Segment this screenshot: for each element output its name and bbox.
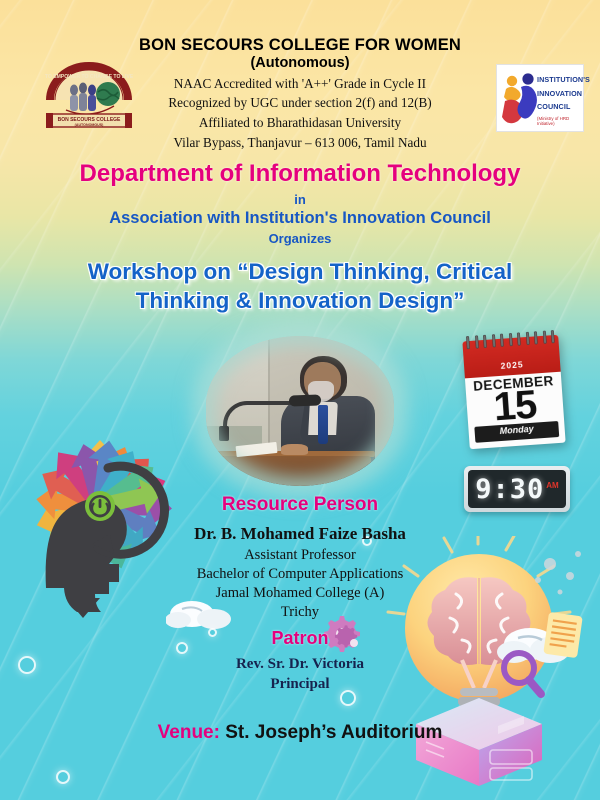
deco-ring bbox=[56, 770, 70, 784]
resource-person-heading: Resource Person bbox=[0, 494, 600, 516]
event-date-calendar: 2025 DECEMBER 15 Monday bbox=[462, 335, 565, 449]
venue-value: St. Joseph’s Auditorium bbox=[225, 722, 442, 743]
resource-person-institution: Jamal Mohamed College (A) bbox=[0, 584, 600, 603]
department-connector: in bbox=[0, 192, 600, 207]
clock-meridiem: AM bbox=[546, 481, 558, 490]
department-block: Department of Information Technology in … bbox=[0, 160, 600, 246]
institution-header: BON SECOURS COLLEGE FOR WOMEN (Autonomou… bbox=[0, 36, 600, 151]
venue-row: Venue: St. Joseph’s Auditorium bbox=[0, 722, 600, 744]
department-organizes: Organizes bbox=[0, 231, 600, 246]
resource-person-city: Trichy bbox=[0, 603, 600, 622]
poster-canvas: TO EMPOWER TO CHANGE TO LIVE BON SECOURS… bbox=[0, 0, 600, 800]
college-name: BON SECOURS COLLEGE FOR WOMEN bbox=[0, 36, 600, 54]
resource-person-details: Assistant Professor Bachelor of Computer… bbox=[0, 546, 600, 623]
workshop-title: Workshop on “Design Thinking, Critical T… bbox=[55, 258, 545, 316]
resource-person-department: Bachelor of Computer Applications bbox=[0, 565, 600, 584]
department-title: Department of Information Technology bbox=[0, 160, 600, 188]
patron-details: Rev. Sr. Dr. Victoria Principal bbox=[0, 654, 600, 695]
accreditation-line-1: NAAC Accredited with 'A++' Grade in Cycl… bbox=[0, 76, 600, 93]
speaker-at-podium-photo bbox=[206, 336, 394, 486]
venue-label: Venue: bbox=[158, 722, 220, 743]
patron-designation: Principal bbox=[0, 674, 600, 694]
accreditation-line-2: Recognized by UGC under section 2(f) and… bbox=[0, 95, 600, 112]
department-association: Association with Institution's Innovatio… bbox=[0, 209, 600, 228]
resource-person-name: Dr. B. Mohamed Faize Basha bbox=[0, 524, 600, 544]
college-autonomous-label: (Autonomous) bbox=[0, 55, 600, 72]
accreditation-line-4: Vilar Bypass, Thanjavur – 613 006, Tamil… bbox=[0, 135, 600, 152]
patron-heading: Patron bbox=[0, 628, 600, 649]
patron-name: Rev. Sr. Dr. Victoria bbox=[0, 654, 600, 674]
resource-person-designation: Assistant Professor bbox=[0, 546, 600, 565]
accreditation-line-3: Affiliated to Bharathidasan University bbox=[0, 115, 600, 132]
